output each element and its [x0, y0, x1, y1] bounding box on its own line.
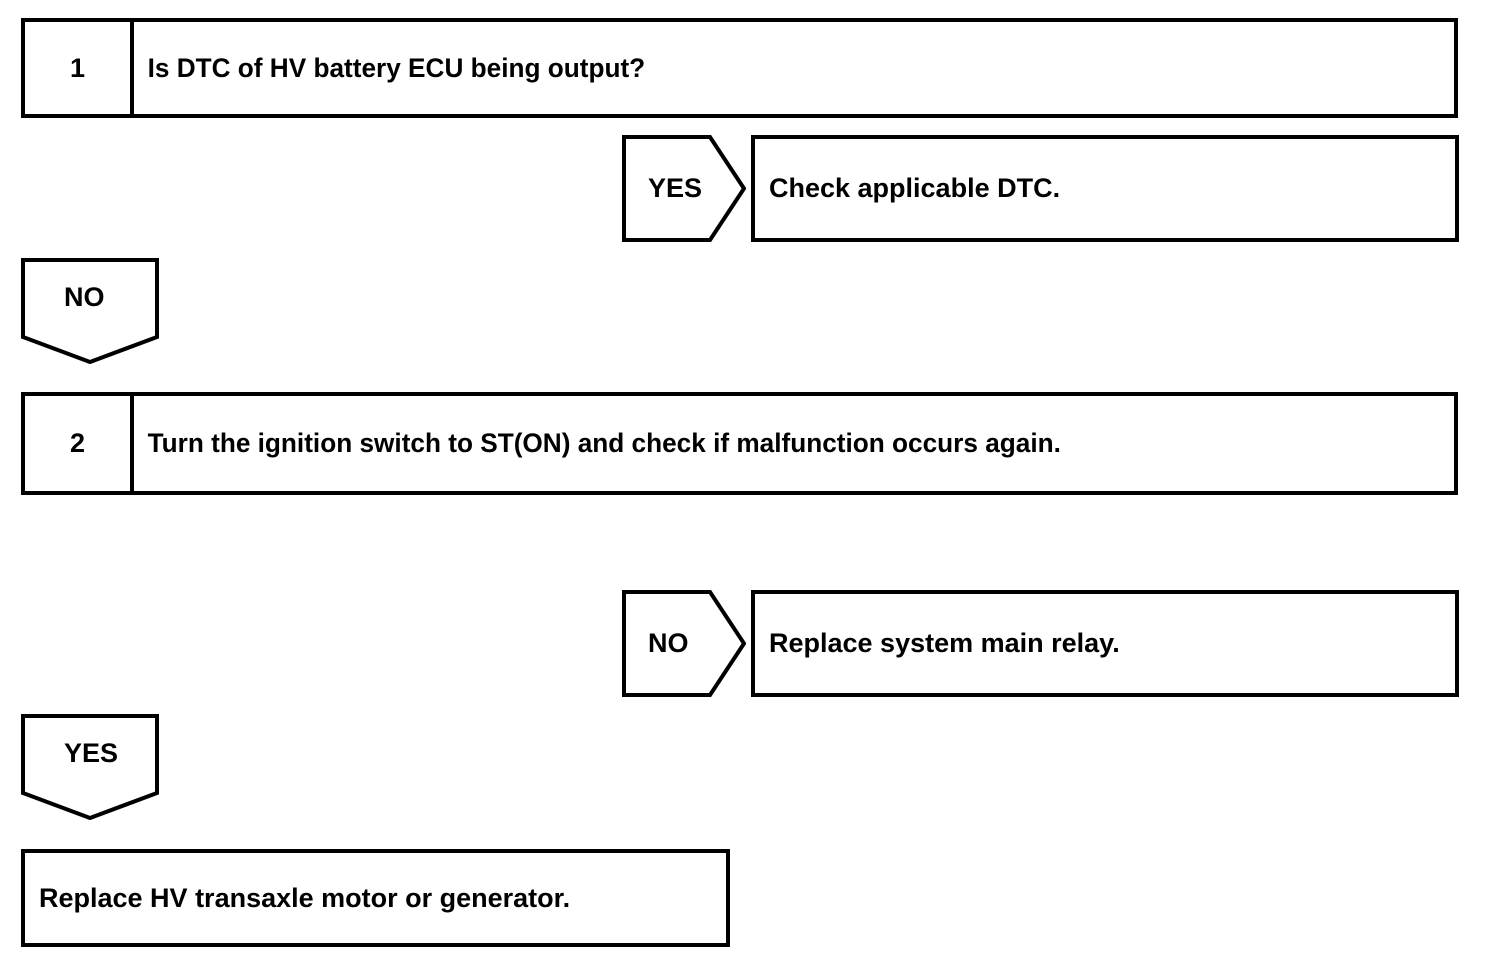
pentagon-right-icon — [622, 135, 746, 242]
pentagon-down-icon — [21, 714, 159, 820]
branch-arrow-yes-1: YES — [622, 135, 746, 242]
step-number-2: 2 — [25, 396, 134, 491]
step-number-1: 1 — [25, 22, 134, 114]
branch-arrow-no-1: NO — [21, 258, 159, 364]
result-text-replace-transaxle: Replace HV transaxle motor or generator. — [39, 883, 570, 914]
result-box-replace-transaxle: Replace HV transaxle motor or generator. — [21, 849, 730, 947]
step-box-1: 1 Is DTC of HV battery ECU being output? — [21, 18, 1458, 118]
pentagon-right-icon — [622, 590, 746, 697]
flowchart-canvas: 1 Is DTC of HV battery ECU being output?… — [0, 0, 1504, 960]
branch-arrow-no-2: NO — [622, 590, 746, 697]
step-text-1: Is DTC of HV battery ECU being output? — [134, 22, 1414, 114]
step-text-2: Turn the ignition switch to ST(ON) and c… — [134, 396, 1414, 491]
branch-arrow-yes-2: YES — [21, 714, 159, 820]
result-box-replace-relay: Replace system main relay. — [751, 590, 1459, 697]
result-text-check-dtc: Check applicable DTC. — [769, 173, 1060, 204]
pentagon-down-icon — [21, 258, 159, 364]
result-box-check-dtc: Check applicable DTC. — [751, 135, 1459, 242]
result-text-replace-relay: Replace system main relay. — [769, 628, 1120, 659]
step-box-2: 2 Turn the ignition switch to ST(ON) and… — [21, 392, 1458, 495]
